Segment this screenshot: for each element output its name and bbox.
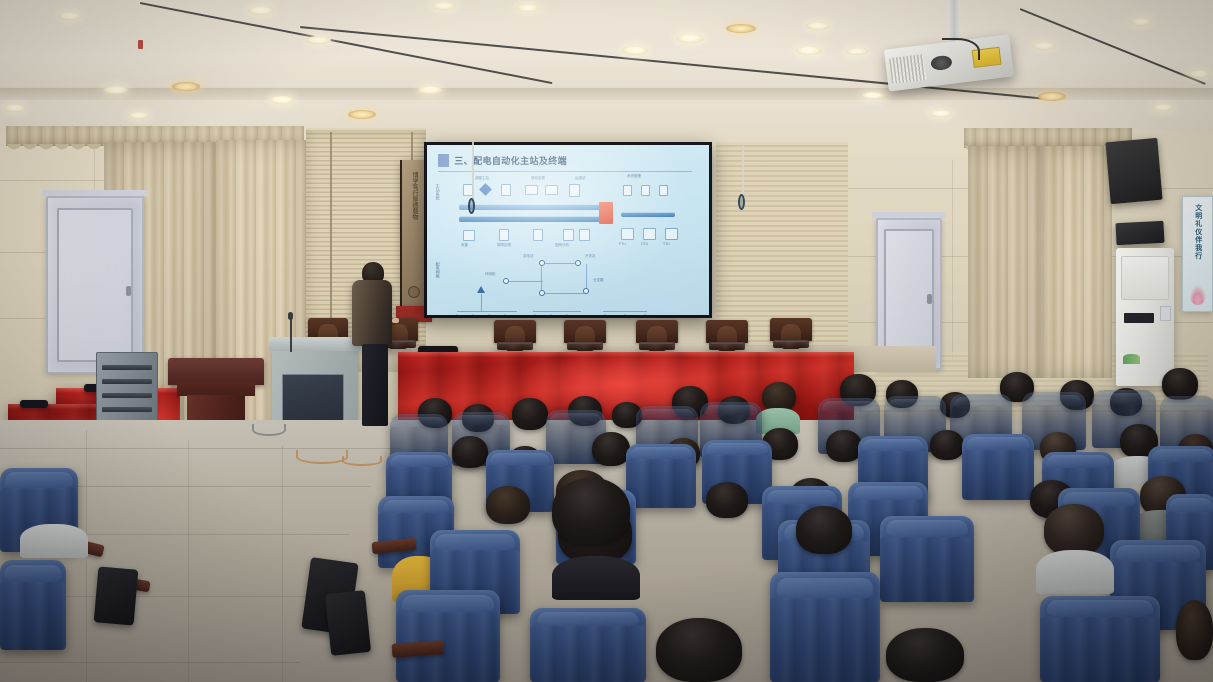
audience-head <box>486 486 530 524</box>
floor-seam <box>0 448 400 449</box>
transformer-icon <box>487 314 491 315</box>
ceiling-downlight <box>622 46 648 55</box>
slide-frontend-node <box>599 202 613 224</box>
audience-head <box>1044 504 1104 556</box>
auditorium-seat[interactable] <box>626 444 696 508</box>
chair-cushion <box>20 400 48 408</box>
transformer-icon <box>603 314 607 315</box>
chair-seat <box>709 342 746 349</box>
ceiling-downlight <box>676 34 704 43</box>
presenter-legs <box>362 344 388 426</box>
slide-service-bus-bar <box>459 204 611 210</box>
auditorium-seat[interactable] <box>962 434 1034 500</box>
floor-seam <box>188 440 189 682</box>
ceiling-downlight <box>806 22 830 30</box>
lecture-hall-photo: 博学笃行厚德载物 三、配电自动化主站及终端 主站系统 调度主站 通信前置 运维站… <box>0 0 1213 682</box>
slide-icon-box <box>499 229 509 241</box>
topology-link <box>509 281 543 282</box>
cabinet-top <box>269 337 360 352</box>
upper-caption: 采集 <box>461 243 468 248</box>
ac-grille-icon <box>1121 256 1170 300</box>
backpack <box>325 590 371 656</box>
slide-data-bus-bar <box>459 216 611 222</box>
fire-sprinkler-icon <box>138 40 143 49</box>
ceiling-downlight <box>270 96 294 104</box>
hanging-mic-icon <box>468 198 475 214</box>
ceiling-downlight <box>306 36 331 44</box>
slide-bullet-icon <box>438 154 449 167</box>
lotus-icon <box>1189 285 1206 306</box>
topology-link <box>457 311 517 312</box>
floor-cable <box>252 424 286 436</box>
door-frame-left <box>42 190 148 196</box>
ceiling-downlight <box>1152 104 1174 111</box>
auditorium-seat[interactable] <box>396 590 500 682</box>
wall-speaker <box>1115 221 1164 245</box>
slide-icon-box <box>623 185 632 196</box>
lower-diagram-row-label: 配电网络 <box>435 262 440 315</box>
topology-link <box>545 293 585 294</box>
wall-speaker <box>1105 138 1162 204</box>
scroll-seal-icon <box>408 286 420 298</box>
floor-seam <box>0 662 300 663</box>
topology-caption: 环网柜 <box>485 272 496 277</box>
ceiling-downlight <box>726 24 756 33</box>
door-handle[interactable] <box>927 294 932 304</box>
audience-head <box>930 430 964 460</box>
ceiling-downlight <box>1032 42 1056 50</box>
transformer-icon <box>477 286 485 293</box>
presenter-torso <box>352 280 392 346</box>
auditorium-seat[interactable] <box>880 516 974 602</box>
ceiling-downlight <box>104 86 128 94</box>
topology-link <box>603 311 647 312</box>
projection-screen: 三、配电自动化主站及终端 主站系统 调度主站 通信前置 运维站 系统管理 <box>427 145 709 315</box>
floor-cable <box>296 450 348 464</box>
ceiling-downlight <box>248 6 274 15</box>
slide-icon-box <box>501 184 511 196</box>
ceiling-downlight <box>846 48 868 55</box>
equipment-rack[interactable] <box>96 352 158 426</box>
topology-caption: 开关站 <box>585 254 596 259</box>
slide-icon-box <box>569 184 580 197</box>
upper-caption: 运维站 <box>575 176 586 181</box>
topology-link <box>545 263 575 264</box>
auditorium-seat[interactable] <box>770 572 880 682</box>
floor-cable <box>342 456 382 466</box>
upper-caption: DTU <box>641 242 648 246</box>
ac-badge <box>1160 306 1170 321</box>
topology-caption: 分支箱 <box>593 278 604 283</box>
ceiling-downlight <box>796 46 822 55</box>
ceiling-downlight <box>172 82 200 91</box>
podium-top <box>168 358 264 385</box>
audience-head <box>452 436 488 468</box>
audience-head <box>796 506 852 554</box>
ceiling-downlight <box>930 110 952 117</box>
hanging-mic-cable <box>472 142 474 200</box>
topology-link <box>586 264 587 288</box>
audience-head <box>1176 600 1213 660</box>
door-handle[interactable] <box>126 286 131 296</box>
ceiling-downlight <box>1038 92 1066 101</box>
slide-divider <box>438 171 692 172</box>
upper-caption: 配网分析 <box>555 243 569 248</box>
projector-vent-icon <box>889 54 927 84</box>
ceiling-downlight <box>128 112 150 119</box>
transformer-icon <box>503 314 507 315</box>
door-frame-right <box>872 212 946 218</box>
ceiling-downlight <box>4 104 26 112</box>
ceiling-downlight <box>1130 18 1152 26</box>
door-panel <box>57 208 132 361</box>
audience-shoulders <box>20 524 88 558</box>
topology-link <box>481 294 482 312</box>
topology-link <box>533 311 581 312</box>
presenter-hand <box>392 318 399 323</box>
transformer-icon <box>533 314 537 315</box>
transformer-icon <box>471 314 475 315</box>
scroll-calligraphy-text: 博学笃行厚德载物 <box>410 172 418 220</box>
slide-body: 主站系统 调度主站 通信前置 运维站 系统管理 <box>427 174 709 315</box>
rack-slot <box>102 393 152 398</box>
ceiling-downlight <box>516 4 540 12</box>
rack-slot <box>102 379 152 384</box>
upper-caption: 故障处理 <box>497 243 511 248</box>
ceiling-downlight <box>58 12 82 20</box>
ceiling-downlight <box>348 110 376 119</box>
transformer-icon <box>643 314 647 315</box>
slide-icon-box <box>463 230 475 241</box>
slide-diamond-node <box>479 183 492 196</box>
slide-icon-box <box>563 229 574 241</box>
audience-shoulders <box>552 556 640 600</box>
ceiling-downlight <box>1188 70 1210 78</box>
transformer-icon <box>549 314 553 315</box>
slide-title: 三、配电自动化主站及终端 <box>438 154 567 167</box>
door-left[interactable] <box>46 196 144 374</box>
transformer-icon <box>565 314 569 315</box>
audience-shoulders <box>1036 550 1114 594</box>
transformer-icon <box>455 314 459 315</box>
upper-diagram-row-label: 主站系统 <box>435 184 440 238</box>
audience-head <box>512 398 548 430</box>
mic-icon <box>288 312 293 320</box>
auditorium-seat[interactable] <box>0 560 66 650</box>
ac-display <box>1124 313 1154 323</box>
topology-link <box>541 266 542 290</box>
slide-icon-box <box>659 185 668 196</box>
chair-seat <box>567 342 604 349</box>
ac-brand-logo <box>1123 354 1140 364</box>
audience-head <box>592 432 630 466</box>
slide-icon-box <box>533 229 543 241</box>
audience-head <box>656 618 742 682</box>
slide-terminal-box <box>643 228 656 240</box>
upper-caption: 通信前置 <box>531 176 545 181</box>
upper-caption: TTU <box>663 242 670 246</box>
rack-slot <box>102 407 152 412</box>
audience-head <box>886 628 964 682</box>
rack-slot <box>102 365 152 370</box>
wall-seam <box>952 160 953 360</box>
upper-caption: 系统管理 <box>627 174 641 179</box>
hanging-mic-cable <box>742 146 744 196</box>
slide-icon-box <box>641 185 650 196</box>
ceiling-downlight <box>862 92 884 99</box>
audience-head <box>706 482 748 518</box>
ceiling-downlight <box>432 2 456 10</box>
slide-icon-box <box>545 185 558 195</box>
curtain-right <box>968 146 1044 378</box>
poster-text: 文明礼仪伴我行 <box>1192 204 1203 260</box>
transformer-icon <box>623 314 627 315</box>
upper-caption: 调度主站 <box>475 176 489 181</box>
topology-node <box>575 260 581 266</box>
floor-seam <box>282 446 283 682</box>
slide-terminal-box <box>665 228 678 240</box>
audience-head <box>826 430 862 462</box>
upper-caption: FTU <box>619 242 626 246</box>
air-conditioner[interactable] <box>1116 248 1174 386</box>
backpack <box>94 566 139 625</box>
wall-poster: 文明礼仪伴我行 <box>1182 196 1213 312</box>
audience-head <box>552 478 630 544</box>
topology-caption: 变电站 <box>523 254 534 259</box>
projection-screen-frame: 三、配电自动化主站及终端 主站系统 调度主站 通信前置 运维站 系统管理 <box>424 142 712 318</box>
hanging-mic-icon <box>738 194 745 210</box>
mic-stand <box>290 318 292 352</box>
chair-seat <box>773 340 810 347</box>
slide-icon-box <box>579 229 590 241</box>
slide-right-bus-bar <box>621 212 675 217</box>
ceiling-downlight <box>418 86 442 94</box>
chair-seat <box>497 342 534 349</box>
slide-terminal-box <box>621 228 634 240</box>
chair-seat <box>639 342 676 349</box>
blind-cord <box>330 132 332 332</box>
slide-icon-box <box>525 185 538 195</box>
curtain-right-2 <box>1044 146 1112 378</box>
auditorium-seat[interactable] <box>1040 596 1160 682</box>
auditorium-seat[interactable] <box>530 608 646 682</box>
